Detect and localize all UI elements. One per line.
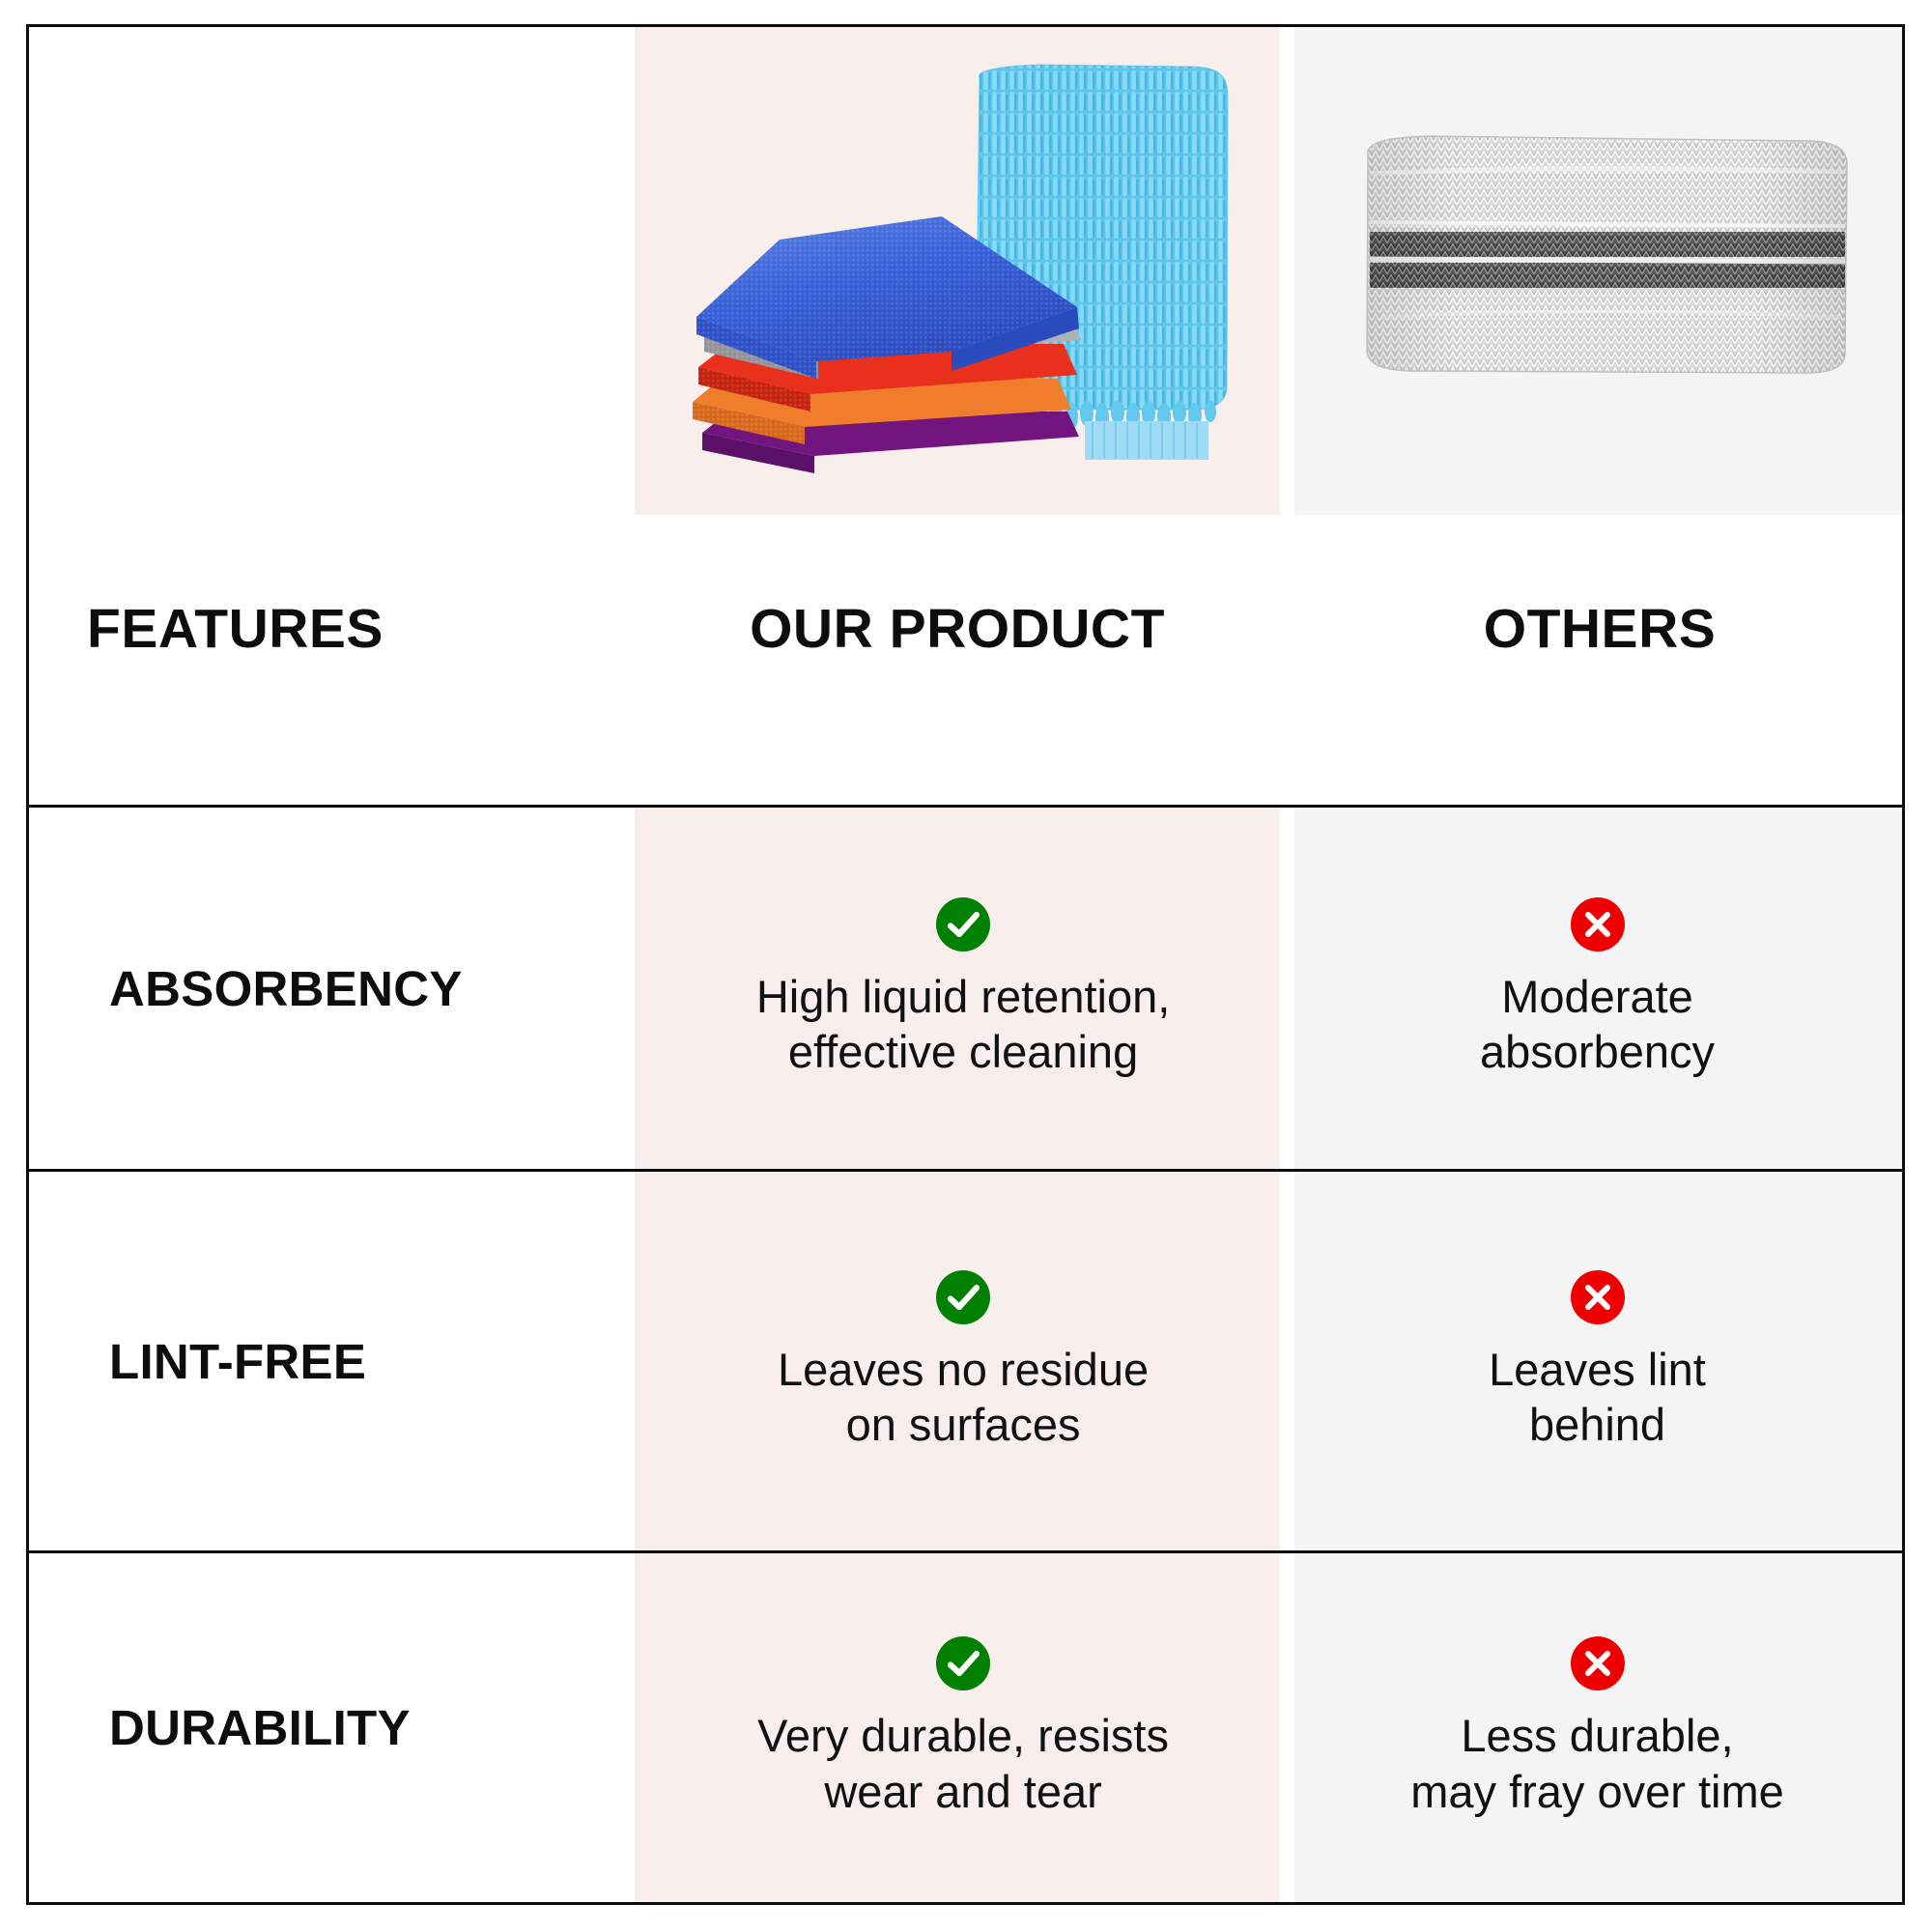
- check-circle-icon: [936, 1270, 990, 1324]
- column-header-others: OTHERS: [1294, 602, 1905, 657]
- check-circle-icon: [936, 897, 990, 952]
- others-cell-lint-free: Leaves lint behind: [1293, 1172, 1902, 1550]
- folded-gray-cotton-shop-towel-photo: [1294, 27, 1905, 515]
- others-description: Moderate absorbency: [1480, 969, 1715, 1080]
- our-product-cell-durability: Very durable, resists wear and tear: [634, 1553, 1293, 1902]
- others-description: Less durable, may fray over time: [1410, 1708, 1784, 1819]
- cross-circle-icon: [1571, 1270, 1625, 1324]
- header-column-gap: [1280, 27, 1294, 515]
- table-row: DURABILITY Very durable, resists wear an…: [29, 1553, 1902, 1902]
- our-product-description: High liquid retention, effective cleanin…: [756, 969, 1171, 1080]
- cross-circle-icon: [1571, 897, 1625, 952]
- feature-label: LINT-FREE: [109, 1337, 366, 1386]
- microfiber-cloth-stack-and-wash-mitt-photo: [635, 27, 1280, 515]
- table-row: ABSORBENCY High liquid retention, effect…: [29, 808, 1902, 1169]
- feature-cell-absorbency: ABSORBENCY: [29, 808, 634, 1169]
- check-circle-icon: [936, 1636, 990, 1690]
- our-product-description: Leaves no residue on surfaces: [778, 1342, 1149, 1453]
- header-divider: [29, 805, 1902, 808]
- cross-circle-icon: [1571, 1636, 1625, 1690]
- feature-label: ABSORBENCY: [109, 964, 463, 1013]
- column-header-our-product: OUR PRODUCT: [635, 602, 1280, 657]
- others-cell-absorbency: Moderate absorbency: [1293, 808, 1902, 1169]
- comparison-table: FEATURES OUR PRODUCT OTHERS ABSORBENCY H…: [26, 24, 1905, 1905]
- column-header-features: FEATURES: [87, 602, 384, 657]
- our-product-description: Very durable, resists wear and tear: [757, 1708, 1169, 1819]
- row-divider-absorbency: [29, 1169, 1902, 1172]
- feature-cell-durability: DURABILITY: [29, 1553, 634, 1902]
- feature-label: DURABILITY: [109, 1703, 411, 1752]
- our-product-cell-absorbency: High liquid retention, effective cleanin…: [634, 808, 1293, 1169]
- our-product-cell-lint-free: Leaves no residue on surfaces: [634, 1172, 1293, 1550]
- feature-cell-lint-free: LINT-FREE: [29, 1172, 634, 1550]
- table-row: LINT-FREE Leaves no residue on surfaces …: [29, 1172, 1902, 1550]
- others-cell-durability: Less durable, may fray over time: [1293, 1553, 1902, 1902]
- others-description: Leaves lint behind: [1489, 1342, 1706, 1453]
- row-divider-lint-free: [29, 1550, 1902, 1553]
